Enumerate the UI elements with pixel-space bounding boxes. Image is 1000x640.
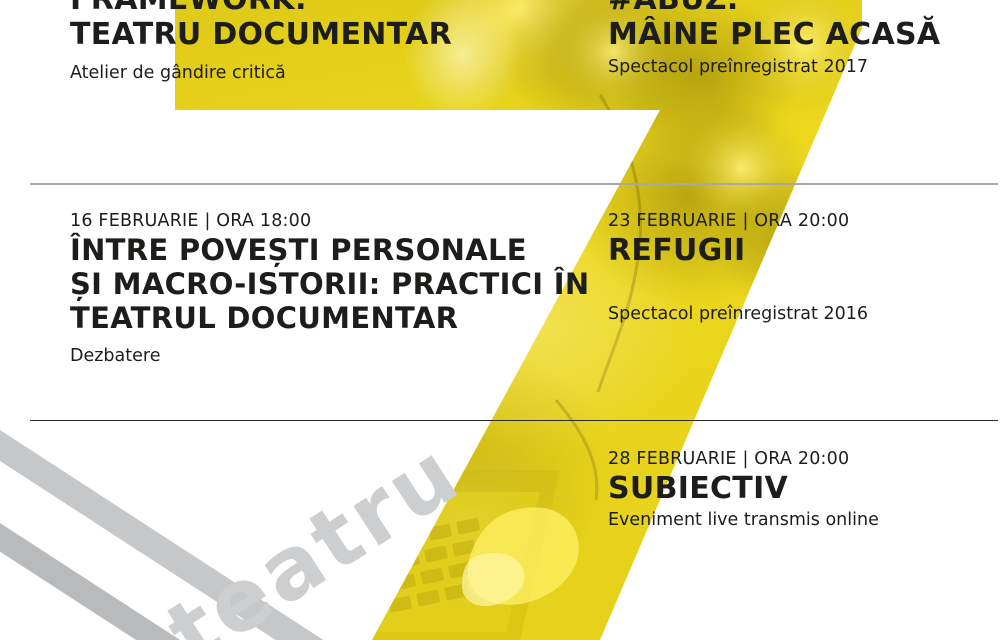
event-subiectiv: 28 FEBRUARIE | ORA 20:00 SUBIECTIV Eveni…: [608, 449, 879, 530]
event-abuz: #ABUZ. MÂINE PLEC ACASĂ Spectacol preînr…: [608, 0, 940, 77]
event-refugii: 23 FEBRUARIE | ORA 20:00 REFUGII Spectac…: [608, 211, 868, 324]
event-framework: FRAMEWORK: TEATRU DOCUMENTAR Atelier de …: [70, 0, 452, 83]
watermark-teatru: teatru: [150, 422, 478, 640]
event-date: 28 FEBRUARIE | ORA 20:00: [608, 449, 879, 469]
divider-top: [30, 183, 998, 185]
event-subtitle: Eveniment live transmis online: [608, 510, 879, 530]
poster-canvas: teatru FRAMEWORK: TEATRU DOCUMENTAR Atel…: [0, 0, 1000, 640]
event-subtitle: Dezbatere: [70, 346, 589, 366]
event-subtitle: Spectacol preînregistrat 2017: [608, 57, 940, 77]
event-intre-povesti: 16 FEBRUARIE | ORA 18:00 ÎNTRE POVEȘTI P…: [70, 211, 589, 366]
event-date: 16 FEBRUARIE | ORA 18:00: [70, 211, 589, 231]
event-title: ÎNTRE POVEȘTI PERSONALE ȘI MACRO-ISTORII…: [70, 233, 589, 336]
event-subtitle: Atelier de gândire critică: [70, 63, 452, 83]
event-title: FRAMEWORK: TEATRU DOCUMENTAR: [70, 0, 452, 53]
event-title: REFUGII: [608, 233, 868, 268]
event-title: #ABUZ. MÂINE PLEC ACASĂ: [608, 0, 940, 53]
event-title: SUBIECTIV: [608, 471, 879, 506]
divider-middle: [30, 420, 998, 421]
event-date: 23 FEBRUARIE | ORA 20:00: [608, 211, 868, 231]
event-subtitle: Spectacol preînregistrat 2016: [608, 304, 868, 324]
